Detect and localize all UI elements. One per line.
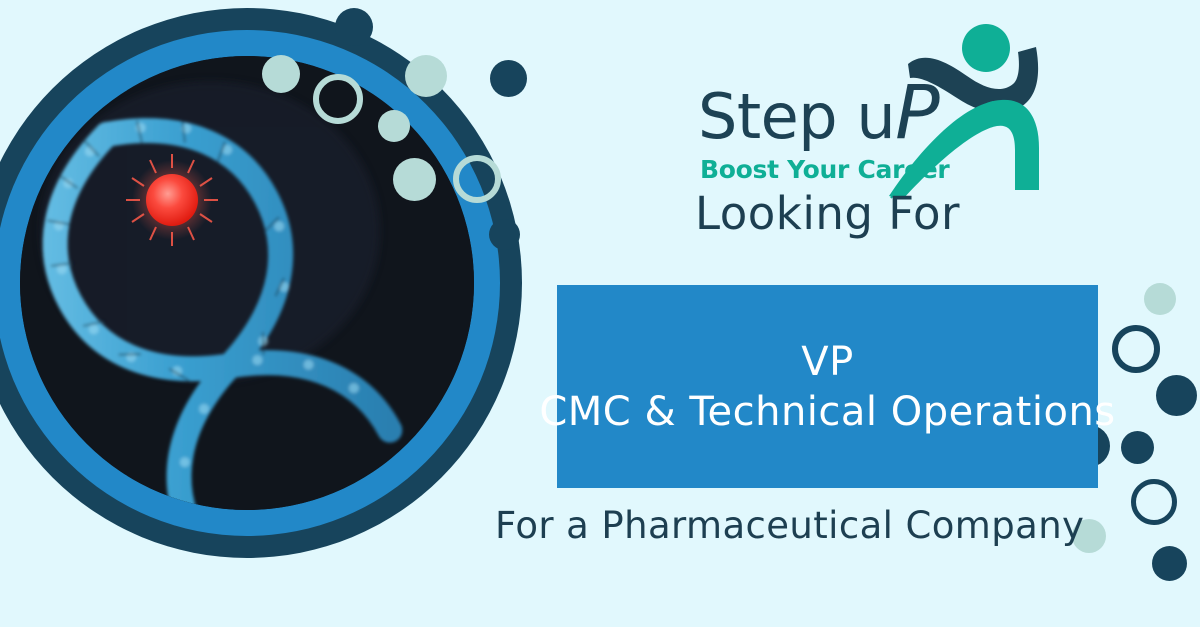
ring-pale-2 (453, 155, 501, 203)
dot-pale-4 (393, 158, 436, 201)
step-up-logo[interactable]: Step uP Boost Your Career (693, 14, 1053, 194)
highlight-marker (146, 174, 198, 226)
dot-navy-2 (490, 60, 527, 97)
job-posting-poster: Step uP Boost Your Career Looking For VP… (0, 0, 1200, 627)
running-person-icon (889, 14, 1053, 199)
company-subline: For a Pharmaceutical Company (495, 504, 1035, 547)
looking-for-heading: Looking For (557, 189, 1098, 239)
ring-navy-1 (1112, 325, 1160, 373)
dot-navy-4 (1156, 375, 1197, 416)
job-title-level: VP (801, 337, 853, 387)
ring-pale-1 (313, 74, 363, 124)
dot-navy-1 (335, 8, 373, 46)
dot-navy-6 (1121, 431, 1154, 464)
logo-word-main: Step u (698, 80, 895, 153)
running-person-svg (889, 14, 1053, 199)
dot-navy-3 (489, 219, 520, 250)
dot-pale-1 (262, 55, 300, 93)
dot-pale-5 (1144, 283, 1176, 315)
dot-pale-2 (405, 55, 447, 97)
job-title-role: CMC & Technical Operations (539, 387, 1115, 437)
figure-leg (889, 100, 1039, 199)
dot-pale-3 (378, 110, 410, 142)
dot-navy-7 (1152, 546, 1187, 581)
figure-head (962, 24, 1010, 72)
dna-medallion (0, 8, 522, 558)
ring-navy-2 (1131, 479, 1177, 525)
job-title-box: VP CMC & Technical Operations (557, 285, 1098, 488)
